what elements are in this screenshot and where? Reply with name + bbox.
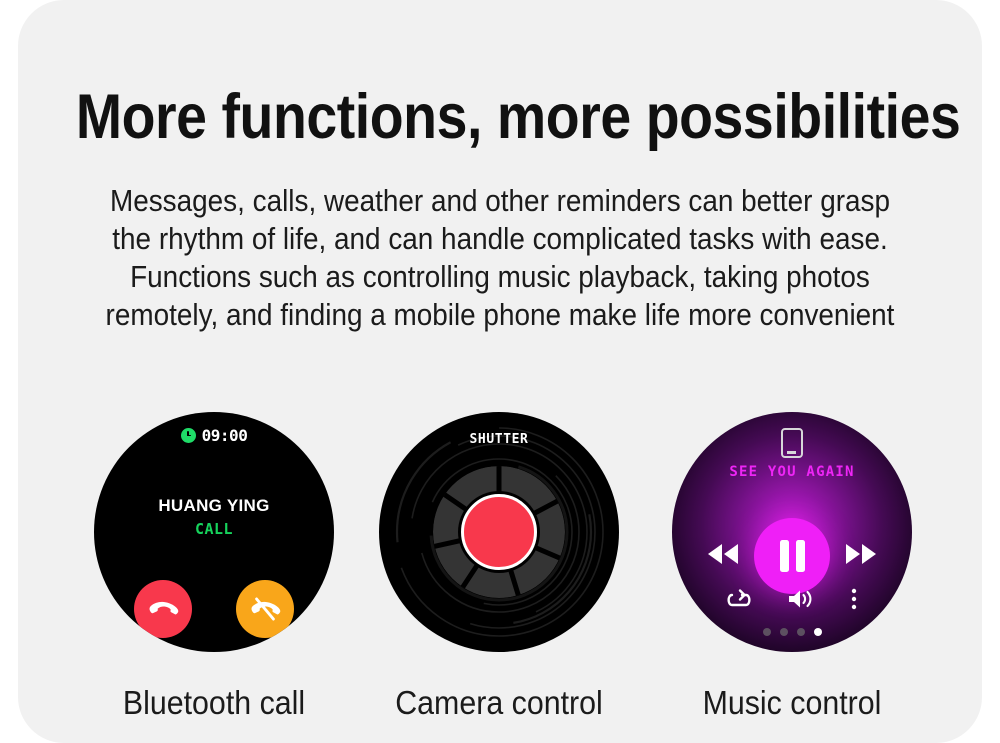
call-state-label: CALL bbox=[94, 520, 334, 538]
repeat-icon bbox=[726, 587, 752, 616]
volume-icon bbox=[786, 587, 816, 616]
kebab-menu-icon bbox=[850, 587, 858, 616]
clock-icon bbox=[181, 428, 196, 443]
page-dot-active[interactable] bbox=[814, 628, 822, 636]
secondary-controls bbox=[672, 587, 912, 616]
transport-controls bbox=[672, 518, 912, 594]
pause-icon-bar-left bbox=[780, 540, 789, 572]
pause-icon-bar-right bbox=[796, 540, 805, 572]
song-title: SEE YOU AGAIN bbox=[672, 464, 912, 480]
watch-screen-music-control[interactable]: SEE YOU AGAIN bbox=[672, 412, 912, 652]
subtitle-line-1: Messages, calls, weather and other remin… bbox=[66, 182, 934, 220]
subtitle-line-3: Functions such as controlling music play… bbox=[66, 258, 934, 296]
pause-button[interactable] bbox=[754, 518, 830, 594]
status-bar: 09:00 bbox=[94, 426, 334, 445]
page-dot[interactable] bbox=[780, 628, 788, 636]
page-subtitle: Messages, calls, weather and other remin… bbox=[66, 182, 934, 334]
watch-card-music-control: SEE YOU AGAIN bbox=[672, 412, 912, 722]
previous-track-button[interactable] bbox=[704, 537, 742, 575]
more-options-button[interactable] bbox=[850, 587, 858, 616]
page-indicator-dots bbox=[672, 628, 912, 636]
page-title: More functions, more possibilities bbox=[76, 84, 924, 150]
watch-caption-camera-control: Camera control bbox=[389, 684, 610, 722]
caller-name: HUANG YING bbox=[94, 496, 334, 516]
phone-icon bbox=[781, 428, 803, 458]
content-card: More functions, more possibilities Messa… bbox=[18, 0, 982, 743]
phone-hangup-icon bbox=[147, 593, 179, 625]
hangup-button[interactable] bbox=[134, 580, 192, 638]
page-root: More functions, more possibilities Messa… bbox=[0, 0, 1000, 743]
watch-caption-bluetooth-call: Bluetooth call bbox=[104, 684, 325, 722]
rewind-icon bbox=[704, 541, 742, 572]
watch-showcase-row: 09:00 HUANG YING CALL bbox=[18, 412, 982, 692]
subtitle-line-2: the rhythm of life, and can handle compl… bbox=[66, 220, 934, 258]
shutter-button[interactable] bbox=[461, 494, 537, 570]
page-dot[interactable] bbox=[763, 628, 771, 636]
phone-muted-icon bbox=[249, 593, 281, 625]
watch-screen-camera-control[interactable]: SHUTTER bbox=[379, 412, 619, 652]
volume-button[interactable] bbox=[786, 587, 816, 616]
next-track-button[interactable] bbox=[842, 537, 880, 575]
shutter-label: SHUTTER bbox=[379, 432, 619, 447]
status-time: 09:00 bbox=[202, 426, 248, 445]
fast-forward-icon bbox=[842, 541, 880, 572]
watch-screen-bluetooth-call[interactable]: 09:00 HUANG YING CALL bbox=[94, 412, 334, 652]
page-dot[interactable] bbox=[797, 628, 805, 636]
call-action-buttons bbox=[94, 580, 334, 638]
repeat-button[interactable] bbox=[726, 587, 752, 616]
watch-card-camera-control: SHUTTER bbox=[379, 412, 619, 722]
subtitle-line-4: remotely, and finding a mobile phone mak… bbox=[66, 296, 934, 334]
watch-card-bluetooth-call: 09:00 HUANG YING CALL bbox=[94, 412, 334, 722]
mute-button[interactable] bbox=[236, 580, 294, 638]
watch-caption-music-control: Music control bbox=[682, 684, 903, 722]
